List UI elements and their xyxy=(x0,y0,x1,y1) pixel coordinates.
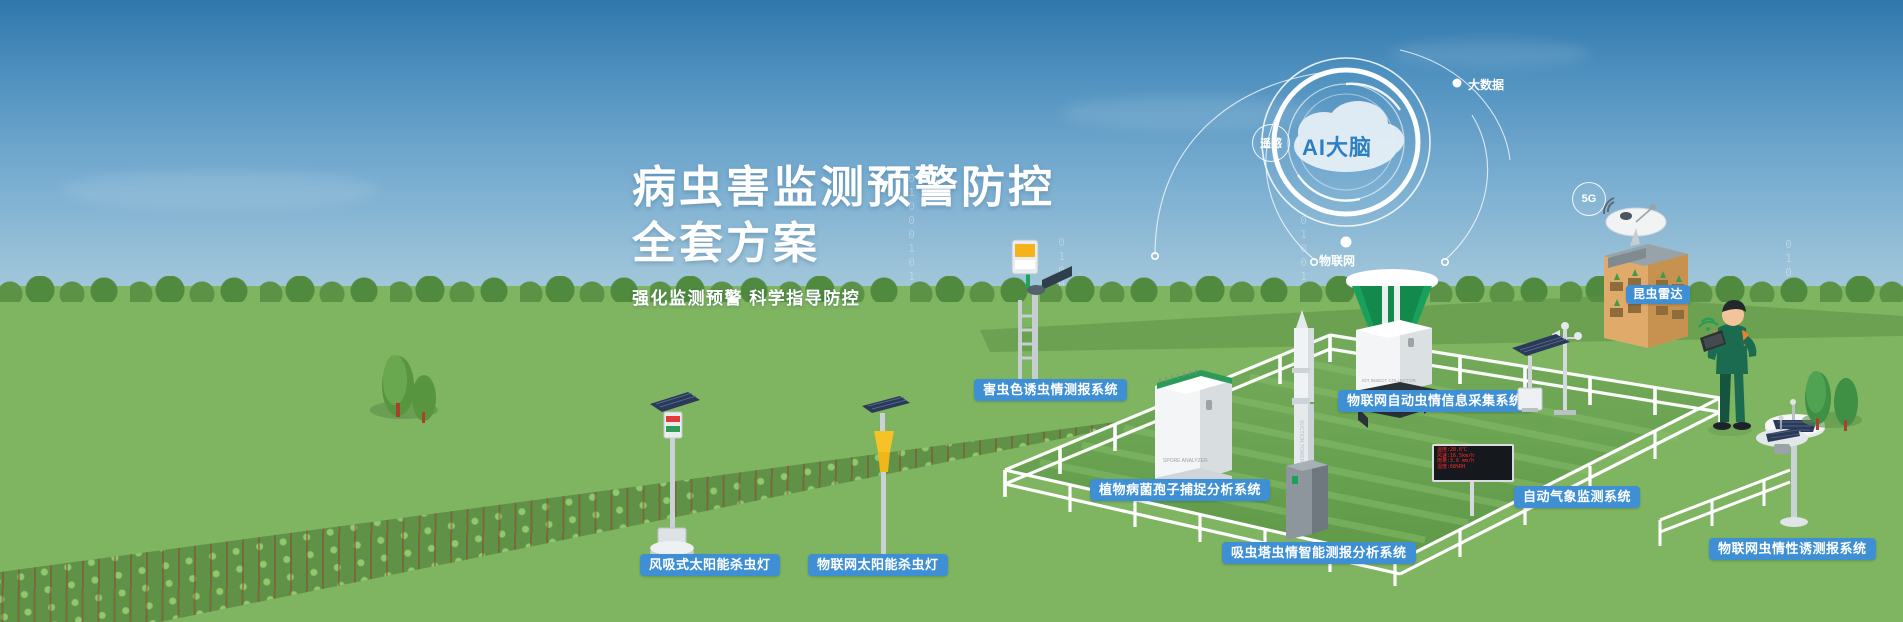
poster-canvas: 01000101101101 010010101 0100101101101 0… xyxy=(0,0,1903,622)
led-line: 湿度:68%RH xyxy=(1437,465,1509,471)
chip-insect-radar[interactable]: 昆虫雷达 xyxy=(1626,285,1690,304)
node-big-data-label: 大数据 xyxy=(1468,76,1504,93)
chip-iot-insect-collect[interactable]: 物联网自动虫情信息采集系统 xyxy=(1338,390,1532,412)
chip-pest-color-trap[interactable]: 害虫色诱虫情测报系统 xyxy=(974,379,1127,401)
chip-spore-capture[interactable]: 植物病菌孢子捕捉分析系统 xyxy=(1090,479,1270,501)
led-weather-board[interactable]: 温度:28.6℃ 风速:16.5km/h 雨量:3.6 mm/h 湿度:68%R… xyxy=(1432,444,1514,482)
ai-brain-hub: AI大脑 遥感 5G 大数据 物联网 xyxy=(1100,20,1580,280)
chip-wind-solar-lamp[interactable]: 风吸式太阳能杀虫灯 xyxy=(640,554,780,576)
ai-brain-label: AI大脑 xyxy=(1302,130,1372,162)
cloud-shape xyxy=(60,170,380,210)
node-remote-sensing-label: 遥感 xyxy=(1260,135,1282,151)
chip-suction-tower[interactable]: 吸虫塔虫情智能测报分析系统 xyxy=(1222,542,1416,564)
chip-iot-solar-lamp[interactable]: 物联网太阳能杀虫灯 xyxy=(808,554,948,576)
chip-iot-pheromone[interactable]: 物联网虫情性诱测报系统 xyxy=(1709,538,1876,560)
node-remote-sensing[interactable]: 遥感 xyxy=(1252,124,1290,162)
poster-title-block: 病虫害监测预警防控 全套方案 强化监测预警 科学指导防控 xyxy=(632,160,1055,309)
chip-weather-station[interactable]: 自动气象监测系统 xyxy=(1514,486,1640,508)
node-5g[interactable]: 5G xyxy=(1572,182,1606,216)
node-iot-label: 物联网 xyxy=(1319,252,1355,269)
node-5g-label: 5G xyxy=(1582,193,1597,205)
poster-subtitle: 强化监测预警 科学指导防控 xyxy=(632,284,1055,309)
title-line-2: 全套方案 xyxy=(632,216,1055,272)
title-line-1: 病虫害监测预警防控 xyxy=(632,160,1055,216)
